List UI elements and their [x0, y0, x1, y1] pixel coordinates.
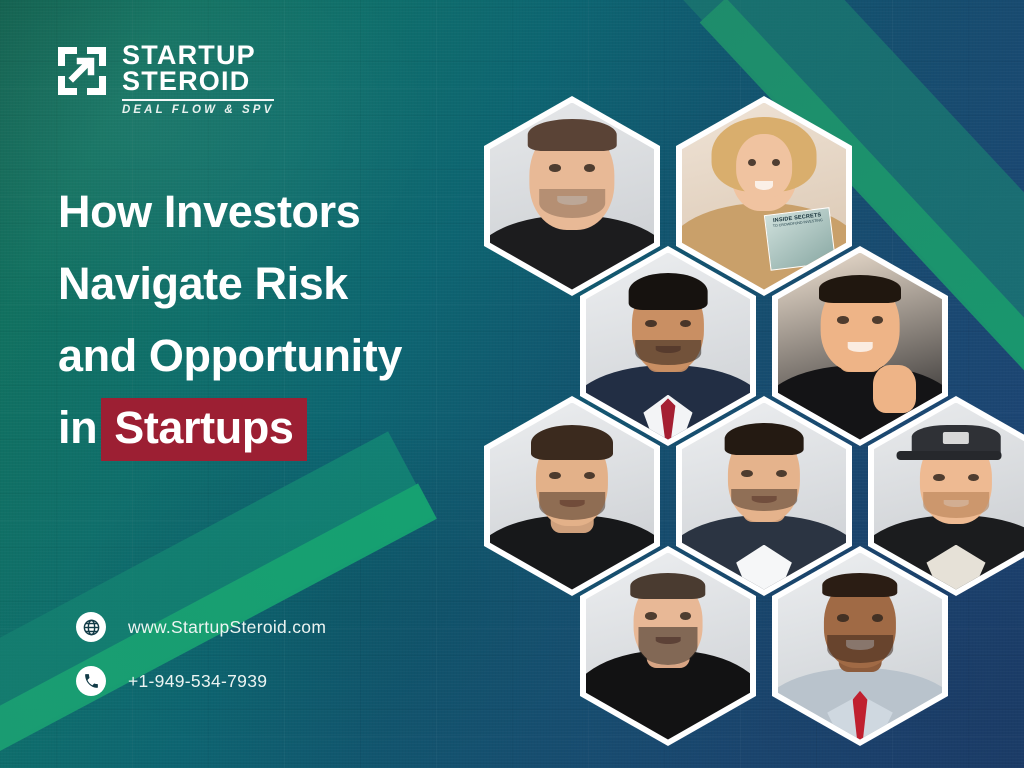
- portrait-person-3: [586, 253, 750, 440]
- brand-logo[interactable]: STARTUP STEROID DEAL FLOW & SPV: [56, 42, 274, 116]
- headline-prefix: in: [58, 402, 97, 453]
- portrait-person-5: [490, 403, 654, 590]
- contact-block: www.StartupSteroid.com +1-949-534-7939: [76, 612, 326, 720]
- poster-canvas: STARTUP STEROID DEAL FLOW & SPV How Inve…: [0, 0, 1024, 768]
- phone-icon: [76, 666, 106, 696]
- website-text: www.StartupSteroid.com: [128, 617, 326, 638]
- globe-icon: [76, 612, 106, 642]
- team-photo-honeycomb: INSIDE SECRETS TO CROWDFUND INVESTING: [470, 78, 1015, 718]
- arrow-up-right-in-brackets-icon: [56, 45, 108, 97]
- portrait-person-1: [490, 103, 654, 290]
- portrait-person-4: [778, 253, 942, 440]
- headline-highlight: Startups: [101, 398, 306, 461]
- portrait-person-8: [586, 553, 750, 740]
- brand-divider: [122, 99, 274, 101]
- brand-name-line2: STEROID: [122, 68, 274, 94]
- brand-tagline: DEAL FLOW & SPV: [122, 104, 274, 116]
- phone-text: +1-949-534-7939: [128, 671, 267, 692]
- portrait-person-7: [874, 403, 1024, 590]
- contact-phone-row[interactable]: +1-949-534-7939: [76, 666, 326, 696]
- brand-name-line1: STARTUP: [122, 42, 274, 68]
- portrait-person-2: INSIDE SECRETS TO CROWDFUND INVESTING: [682, 103, 846, 290]
- portrait-person-6: [682, 403, 846, 590]
- contact-website-row[interactable]: www.StartupSteroid.com: [76, 612, 326, 642]
- book-cover: INSIDE SECRETS TO CROWDFUND INVESTING: [764, 207, 836, 271]
- brand-wordmark: STARTUP STEROID DEAL FLOW & SPV: [122, 42, 274, 116]
- portrait-person-9: [778, 553, 942, 740]
